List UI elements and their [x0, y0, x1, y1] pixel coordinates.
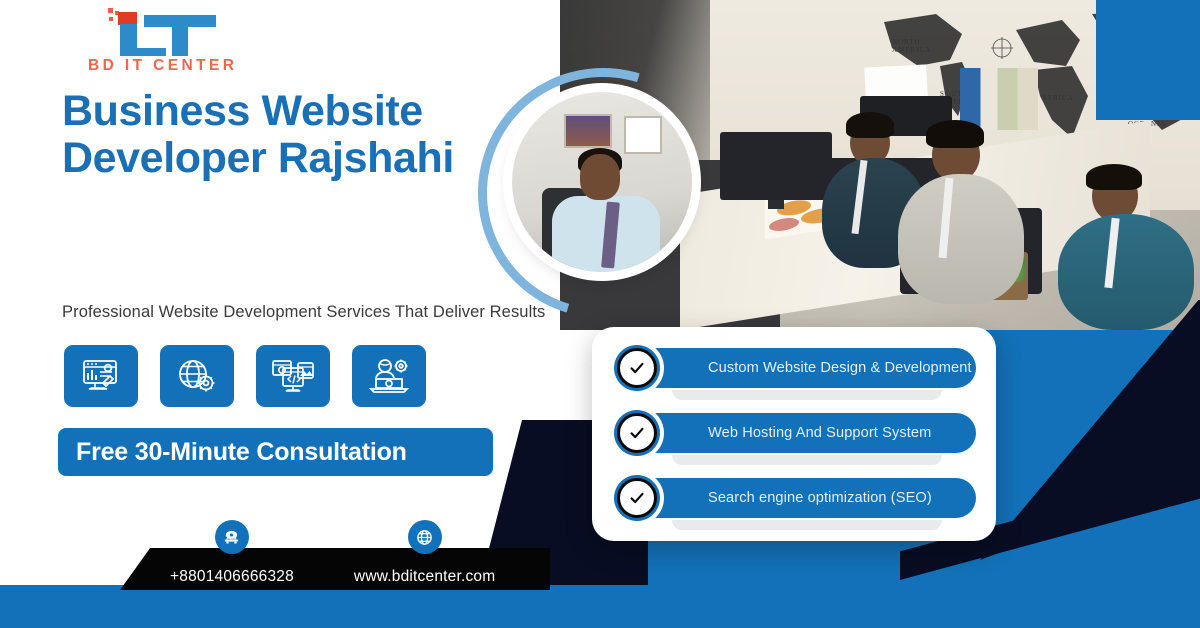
contact-website[interactable]: www.bditcenter.com — [354, 520, 495, 586]
portrait-photo — [512, 92, 692, 272]
svg-text:NORTH: NORTH — [892, 38, 921, 46]
analytics-monitor-wrench-icon[interactable] — [64, 345, 138, 407]
cta-button[interactable]: Free 30-Minute Consultation — [58, 428, 493, 476]
feature-item[interactable]: Custom Website Design & Development — [614, 348, 976, 388]
globe-gear-icon[interactable] — [160, 345, 234, 407]
contact-strip: +8801406666328 www.bditcenter.com — [170, 520, 495, 586]
web-design-screens-icon[interactable] — [256, 345, 330, 407]
globe-icon — [408, 520, 442, 554]
logo-mark-icon — [106, 8, 236, 56]
brand-logo[interactable]: BD IT CENTER — [88, 8, 288, 78]
marketing-banner: NORTHAMERICA SOUTHAMERICA AFRICA OCEANIA — [0, 0, 1200, 628]
feature-item[interactable]: Search engine optimization (SEO) — [614, 478, 976, 518]
logo-wordmark: BD IT CENTER — [88, 57, 288, 75]
svg-text:AMERICA: AMERICA — [892, 46, 931, 54]
svg-text:AFRICA: AFRICA — [1042, 94, 1074, 102]
features-card: Custom Website Design & Development Web … — [592, 327, 996, 541]
feature-label: Search engine optimization (SEO) — [708, 490, 932, 506]
check-circle-icon — [614, 475, 660, 521]
page-subtitle: Professional Website Development Service… — [62, 303, 545, 322]
feature-label: Web Hosting And Support System — [708, 425, 931, 441]
developer-laptop-icon[interactable] — [352, 345, 426, 407]
contact-phone[interactable]: +8801406666328 — [170, 520, 294, 586]
feature-label: Custom Website Design & Development — [708, 360, 972, 376]
telephone-icon — [215, 520, 249, 554]
page-title: Business Website Developer Rajshahi — [62, 88, 482, 182]
cta-label: Free 30-Minute Consultation — [76, 438, 407, 467]
check-circle-icon — [614, 345, 660, 391]
feature-item[interactable]: Web Hosting And Support System — [614, 413, 976, 453]
check-circle-icon — [614, 410, 660, 456]
decor-blue-tab-top — [1096, 0, 1200, 120]
decor-bottom-strip — [0, 585, 1200, 628]
phone-number: +8801406666328 — [170, 568, 294, 586]
website-url: www.bditcenter.com — [354, 568, 495, 586]
service-icon-row — [64, 345, 426, 407]
